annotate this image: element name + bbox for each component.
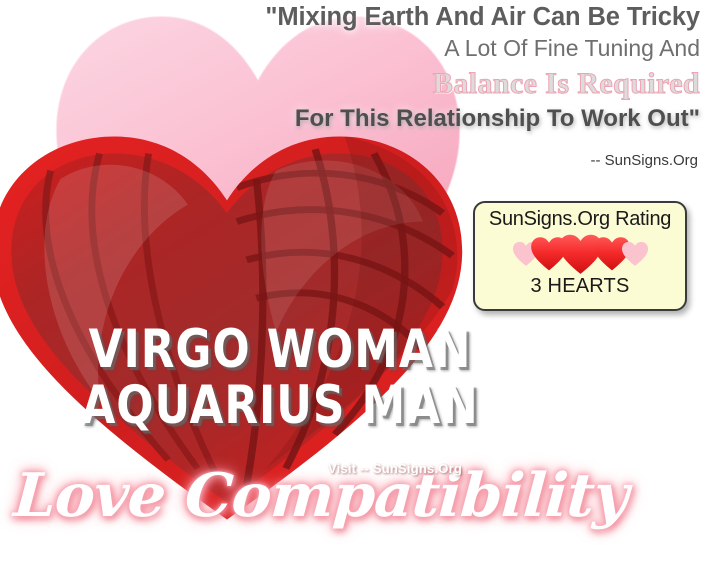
- title-line-1: VIRGO WOMAN: [22, 324, 537, 376]
- rating-count-label: 3 HEARTS: [475, 275, 685, 298]
- title-line-2: AQUARIUS MAN: [22, 380, 537, 432]
- page-title: VIRGO WOMAN AQUARIUS MAN: [0, 324, 560, 432]
- rating-badge: SunSigns.Org Rating: [473, 201, 687, 311]
- poster-canvas: "Mixing Earth And Air Can Be Tricky A Lo…: [0, 0, 708, 572]
- rating-title: SunSigns.Org Rating: [475, 208, 685, 231]
- quote-line-2: A Lot Of Fine Tuning And: [120, 34, 700, 63]
- quote-line-3: Balance Is Required: [120, 66, 700, 101]
- quote-attribution: -- SunSigns.Org: [590, 152, 698, 169]
- rating-heart-empty-2: [621, 241, 649, 267]
- quote-line-4: For This Relationship To Work Out": [120, 104, 700, 133]
- visit-link-text: Visit -- SunSigns.Org: [328, 461, 462, 476]
- rating-hearts-row: [475, 232, 685, 276]
- quote-line-1: "Mixing Earth And Air Can Be Tricky: [120, 2, 700, 33]
- quote-block: "Mixing Earth And Air Can Be Tricky A Lo…: [120, 2, 700, 133]
